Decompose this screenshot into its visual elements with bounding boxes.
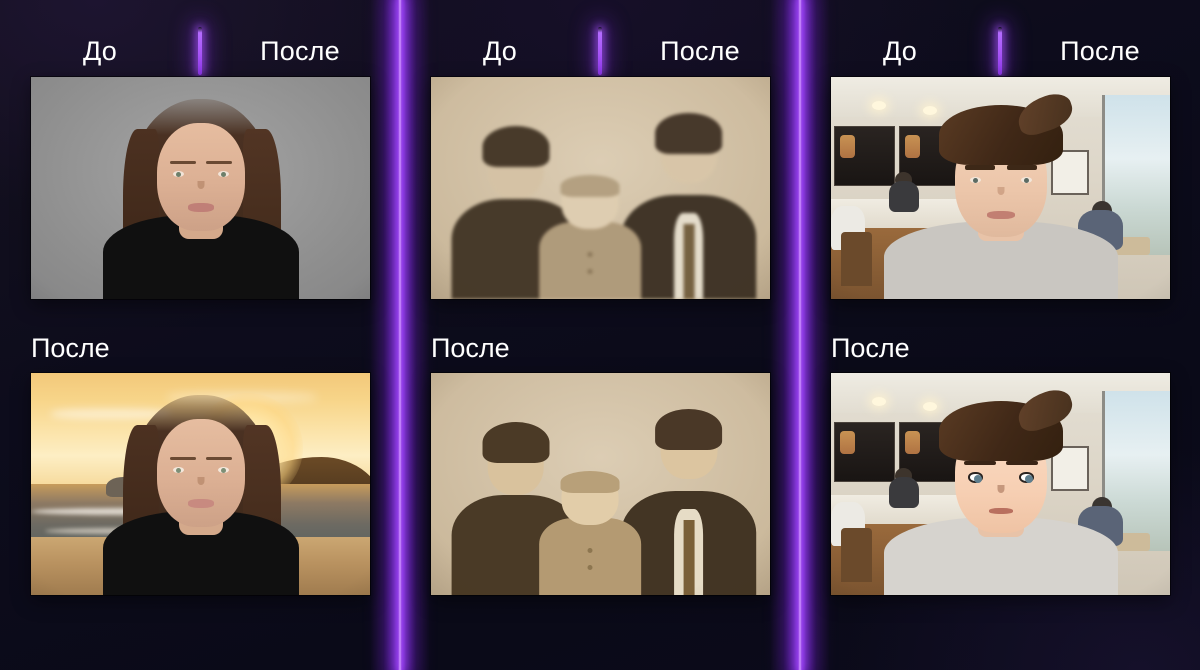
mother-hair bbox=[482, 126, 549, 168]
family-group bbox=[431, 373, 770, 595]
column-3-before-label: До bbox=[800, 38, 1000, 65]
woman-figure bbox=[101, 77, 301, 299]
comparison-grid: До После bbox=[0, 0, 1200, 670]
man-eye-left bbox=[968, 472, 983, 483]
woman-brow-left bbox=[170, 161, 196, 164]
woman-nose bbox=[197, 477, 204, 485]
column-3-header: До После bbox=[800, 26, 1200, 76]
column-2-row2-label: После bbox=[431, 330, 771, 366]
woman-eye-right bbox=[218, 171, 229, 177]
column-3-after-label: После bbox=[1000, 38, 1200, 65]
column-2-before-label: До bbox=[400, 38, 600, 65]
woman-mouth bbox=[188, 499, 214, 508]
young-man-figure-anime bbox=[881, 373, 1121, 595]
mother-hair bbox=[482, 422, 549, 464]
comparison-column-1: До После bbox=[0, 0, 400, 670]
boy-button-2 bbox=[588, 565, 593, 570]
column-1-row2-label: После bbox=[31, 330, 371, 366]
man-hair bbox=[939, 401, 1063, 461]
family-group bbox=[431, 77, 770, 299]
boy-hair bbox=[561, 175, 620, 197]
boy-button-1 bbox=[588, 252, 593, 257]
father-hair bbox=[655, 409, 723, 450]
woman-brow-right bbox=[206, 161, 232, 164]
sepia-scene-after bbox=[431, 373, 770, 595]
man-eye-right bbox=[1021, 177, 1032, 183]
boy-shirt bbox=[539, 222, 641, 299]
vintage-family-photo-before[interactable] bbox=[431, 77, 770, 299]
man-brow-right bbox=[1006, 461, 1038, 465]
family-boy bbox=[539, 175, 641, 299]
beach-scene bbox=[31, 373, 370, 595]
man-nose bbox=[997, 485, 1004, 493]
studio-scene bbox=[31, 77, 370, 299]
comparison-column-2: До После bbox=[400, 0, 800, 670]
boy-shirt bbox=[539, 518, 641, 595]
woman-eye-left bbox=[173, 467, 184, 473]
man-brow-left bbox=[964, 461, 996, 465]
vintage-family-photo-after[interactable] bbox=[431, 373, 770, 595]
woman-face bbox=[157, 123, 245, 231]
man-mouth bbox=[989, 508, 1013, 514]
man-brow-left bbox=[965, 165, 995, 170]
column-2-after-label: После bbox=[600, 38, 800, 65]
cafe-selfie-anime-after[interactable] bbox=[831, 373, 1170, 595]
woman-mouth bbox=[188, 203, 214, 212]
beach-sunset-portrait-after[interactable] bbox=[31, 373, 370, 595]
column-3-row2-label: После bbox=[831, 330, 1171, 366]
column-2-header: До После bbox=[400, 26, 800, 76]
comparison-column-3: До После bbox=[800, 0, 1200, 670]
column-1-header: До После bbox=[0, 26, 400, 76]
column-1-before-label: До bbox=[0, 38, 200, 65]
woman-eye-left bbox=[173, 171, 184, 177]
family-boy bbox=[539, 471, 641, 595]
bar-stool bbox=[841, 528, 872, 581]
woman-figure-after bbox=[101, 373, 301, 595]
man-nose bbox=[997, 187, 1004, 195]
boy-button-2 bbox=[588, 269, 593, 274]
sepia-scene-before bbox=[431, 77, 770, 299]
cafe-scene-anime bbox=[831, 373, 1170, 595]
family-father bbox=[621, 409, 757, 595]
man-eye-left bbox=[970, 177, 981, 183]
studio-portrait-before[interactable] bbox=[31, 77, 370, 299]
boy-hair bbox=[561, 471, 620, 493]
cafe-scene-photo bbox=[831, 77, 1170, 299]
woman-brow-right bbox=[206, 457, 232, 460]
father-tie bbox=[683, 224, 694, 299]
woman-brow-left bbox=[170, 457, 196, 460]
man-eye-right bbox=[1019, 472, 1034, 483]
man-mouth bbox=[987, 211, 1015, 219]
woman-face bbox=[157, 419, 245, 527]
woman-eye-right bbox=[218, 467, 229, 473]
column-1-after-label: После bbox=[200, 38, 400, 65]
father-hair bbox=[655, 113, 723, 154]
father-tie bbox=[683, 520, 694, 595]
cafe-selfie-before[interactable] bbox=[831, 77, 1170, 299]
woman-nose bbox=[197, 181, 204, 189]
boy-button-1 bbox=[588, 548, 593, 553]
young-man-figure bbox=[881, 77, 1121, 299]
man-hair bbox=[939, 105, 1063, 165]
bar-stool bbox=[841, 232, 872, 285]
family-father bbox=[621, 113, 757, 299]
man-brow-right bbox=[1007, 165, 1037, 170]
